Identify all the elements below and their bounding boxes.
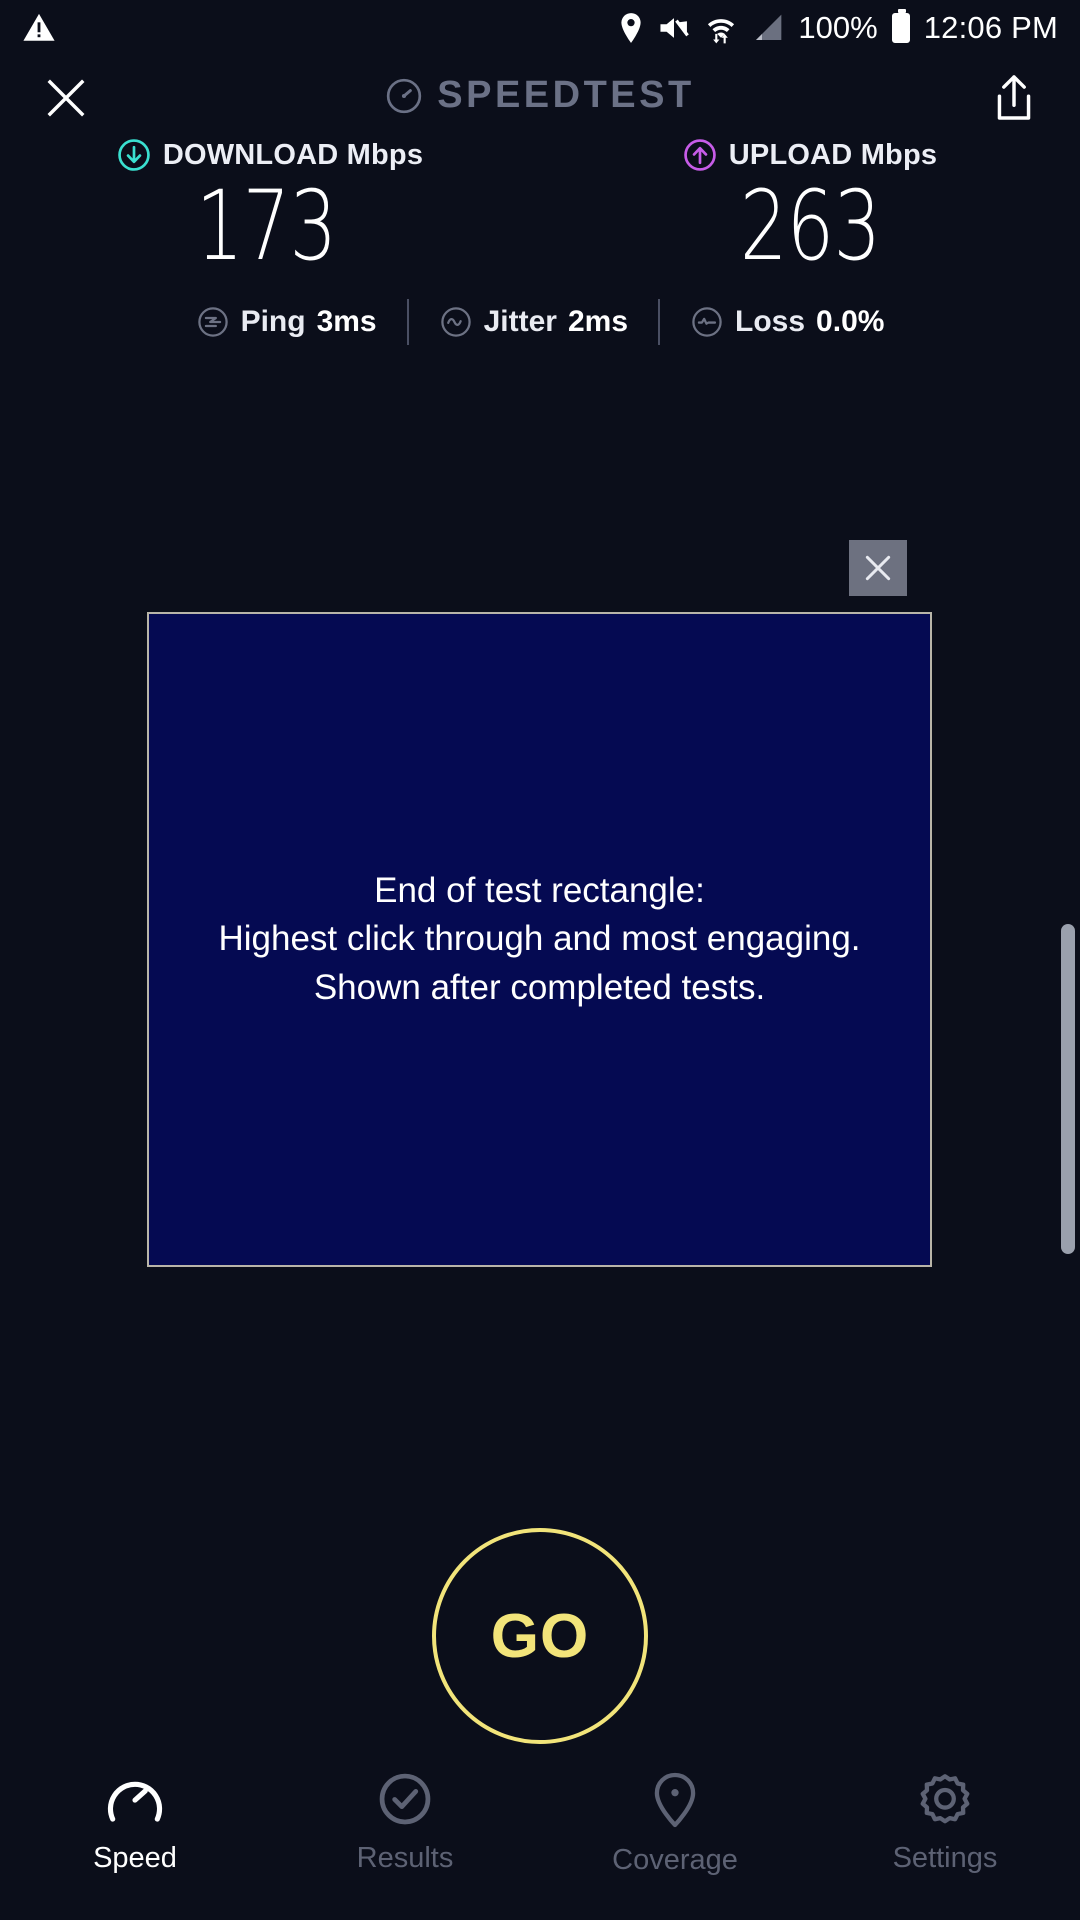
download-metric: DOWNLOAD Mbps 173 xyxy=(0,138,540,277)
go-button-label: GO xyxy=(491,1601,589,1672)
ad-close-button[interactable] xyxy=(849,540,907,596)
speed-metrics-row: DOWNLOAD Mbps 173 UPLOAD xyxy=(0,138,1080,277)
upload-unit-text: Mbps xyxy=(861,139,938,171)
close-icon xyxy=(862,552,894,584)
packet-loss-icon xyxy=(690,305,724,339)
download-label: DOWNLOAD Mbps xyxy=(163,139,423,172)
speedometer-icon xyxy=(106,1772,164,1826)
upload-metric: UPLOAD Mbps 263 xyxy=(540,138,1080,277)
results-panel: DOWNLOAD Mbps 173 UPLOAD xyxy=(0,138,1080,345)
status-bar: 100% 12:06 PM xyxy=(0,0,1080,56)
jitter-metric: Jitter 2ms xyxy=(409,305,658,339)
scrollbar-thumb[interactable] xyxy=(1061,924,1075,1254)
nav-item-speed[interactable]: Speed xyxy=(0,1772,270,1875)
ad-line-1: End of test rectangle: xyxy=(218,867,860,915)
nav-item-coverage[interactable]: Coverage xyxy=(540,1772,810,1877)
nav-label-results: Results xyxy=(357,1842,454,1875)
ad-text: End of test rectangle: Highest click thr… xyxy=(218,867,860,1012)
nav-label-coverage: Coverage xyxy=(612,1844,738,1877)
jitter-value: 2ms xyxy=(568,305,628,339)
speedtest-app-screen: 100% 12:06 PM SPEEDTEST xyxy=(0,0,1080,1920)
ad-line-3: Shown after completed tests. xyxy=(218,964,860,1012)
jitter-label: Jitter xyxy=(484,305,557,339)
speedometer-icon xyxy=(385,77,423,115)
status-bar-left xyxy=(22,11,56,45)
nav-label-speed: Speed xyxy=(93,1842,177,1875)
gear-icon xyxy=(917,1772,973,1826)
loss-label: Loss xyxy=(735,305,805,339)
download-header: DOWNLOAD Mbps xyxy=(117,138,423,172)
brand: SPEEDTEST xyxy=(0,74,1080,117)
location-pin-icon xyxy=(649,1772,701,1828)
ad-creative[interactable]: End of test rectangle: Highest click thr… xyxy=(147,612,932,1267)
bottom-navigation: Speed Results Coverage xyxy=(0,1750,1080,1920)
nav-label-settings: Settings xyxy=(893,1842,998,1875)
nav-item-results[interactable]: Results xyxy=(270,1772,540,1875)
brand-title: SPEEDTEST xyxy=(437,74,694,117)
loss-value: 0.0% xyxy=(816,305,884,339)
battery-percent-label: 100% xyxy=(798,10,877,46)
download-label-text: DOWNLOAD xyxy=(163,139,339,171)
status-bar-right: 100% 12:06 PM xyxy=(618,10,1058,46)
upload-header: UPLOAD Mbps xyxy=(683,138,937,172)
ping-metric: Ping 3ms xyxy=(166,305,407,339)
ad-line-2: Highest click through and most engaging. xyxy=(218,915,860,963)
download-unit-text: Mbps xyxy=(347,139,424,171)
nav-item-settings[interactable]: Settings xyxy=(810,1772,1080,1875)
ping-label: Ping xyxy=(241,305,306,339)
ping-icon xyxy=(196,305,230,339)
go-button[interactable]: GO xyxy=(432,1528,648,1744)
ping-value: 3ms xyxy=(317,305,377,339)
upload-value: 263 xyxy=(740,176,881,277)
upload-label: UPLOAD Mbps xyxy=(729,139,937,172)
volume-mute-icon xyxy=(658,13,690,43)
share-button[interactable] xyxy=(986,68,1042,128)
arrow-up-circle-icon xyxy=(683,138,717,172)
arrow-down-circle-icon xyxy=(117,138,151,172)
app-header: SPEEDTEST xyxy=(0,56,1080,142)
share-icon xyxy=(994,74,1034,122)
ping-jitter-loss-row: Ping 3ms Jitter 2ms xyxy=(0,299,1080,345)
warning-triangle-icon xyxy=(22,11,56,45)
download-value: 173 xyxy=(196,176,337,277)
cellular-signal-icon xyxy=(752,13,784,43)
clock-label: 12:06 PM xyxy=(924,10,1058,46)
location-pin-icon xyxy=(618,12,644,44)
check-circle-icon xyxy=(377,1772,433,1826)
wifi-transfer-icon xyxy=(704,11,738,45)
battery-full-icon xyxy=(892,13,910,43)
upload-label-text: UPLOAD xyxy=(729,139,853,171)
jitter-wave-icon xyxy=(439,305,473,339)
loss-metric: Loss 0.0% xyxy=(660,305,914,339)
